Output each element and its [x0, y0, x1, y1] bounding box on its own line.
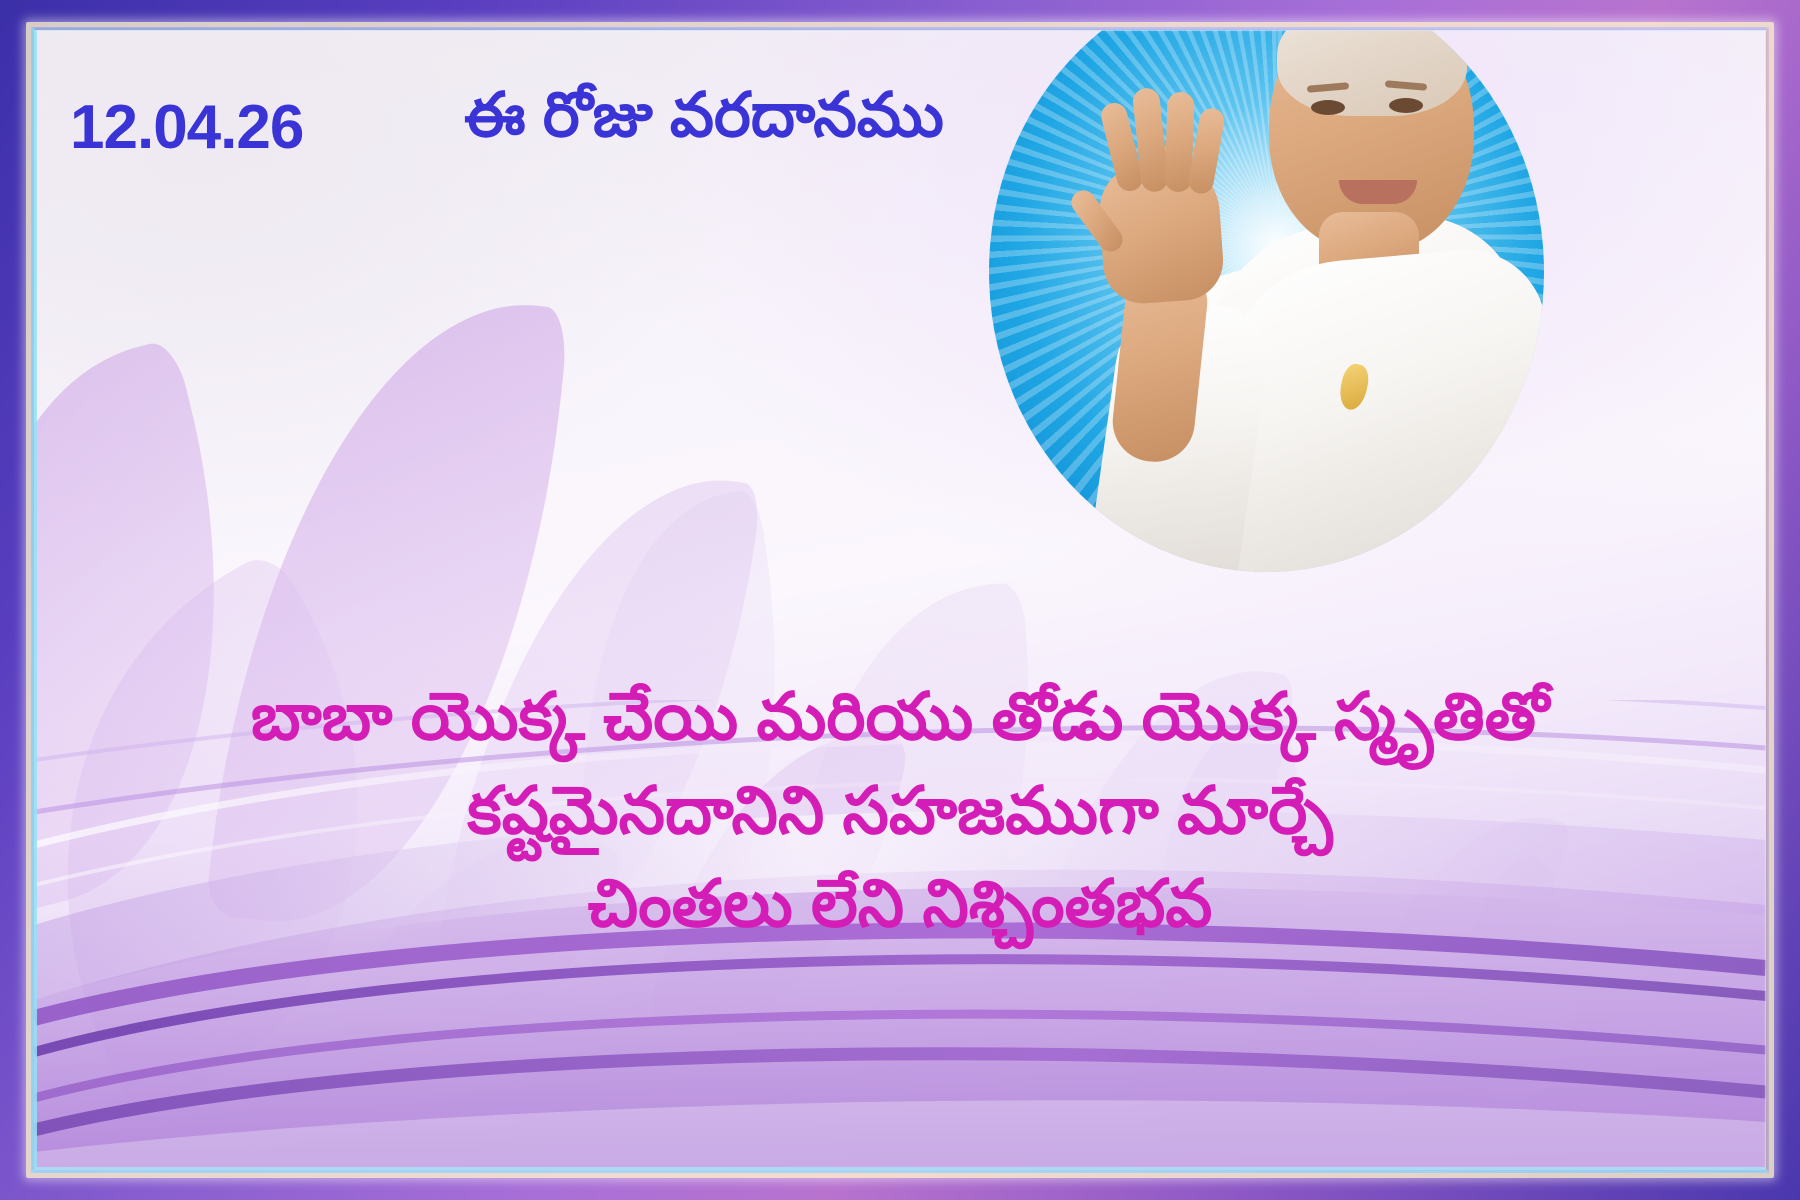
- eye-shape: [1389, 98, 1423, 113]
- message-body: బాబా యొక్క చేయి మరియు తోడు యొక్క స్మృతిత…: [34, 670, 1766, 951]
- hair-shape: [1277, 30, 1467, 116]
- message-line: బాబా యొక్క చేయి మరియు తోడు యొక్క స్మృతిత…: [34, 670, 1766, 764]
- card-canvas: 12.04.26 ఈ రోజు వరదానము బాబా యొక్క చేయి …: [34, 30, 1766, 1170]
- page-title: ఈ రోజు వరదానము: [464, 80, 944, 166]
- message-line: కష్టమైనదానిని సహజముగా మార్చే: [34, 764, 1766, 858]
- avatar: [989, 30, 1544, 572]
- greeting-card: 12.04.26 ఈ రోజు వరదానము బాబా యొక్క చేయి …: [0, 0, 1800, 1200]
- eye-shape: [1311, 100, 1345, 115]
- mouth-shape: [1339, 180, 1417, 204]
- date-label: 12.04.26: [70, 92, 303, 163]
- message-line: చింతలు లేని నిశ్చింతభవ: [34, 857, 1766, 951]
- portrait-figure: [989, 30, 1544, 572]
